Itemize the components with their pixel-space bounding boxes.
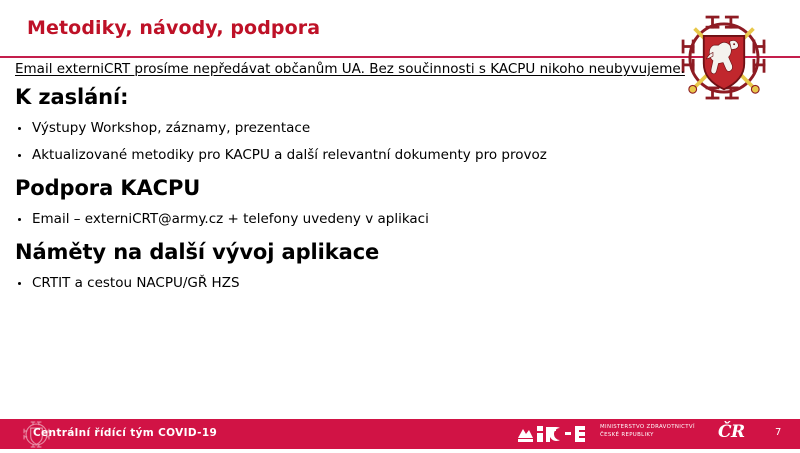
section-heading-podpora-kacpu: Podpora KACPU bbox=[15, 175, 785, 201]
bullet-list-namety: CRTIT a cestou NACPU/GŘ HZS bbox=[15, 275, 785, 292]
ministry-name-line2: ČESKÉ REPUBLIKY bbox=[600, 432, 695, 440]
list-item: Email – externiCRT@army.cz + telefony uv… bbox=[15, 211, 785, 228]
list-item: Výstupy Workshop, záznamy, prezentace bbox=[15, 120, 785, 137]
bullet-list-podpora-kacpu: Email – externiCRT@army.cz + telefony uv… bbox=[15, 211, 785, 228]
ministry-name-line1: MINISTERSTVO ZDRAVOTNICTVÍ bbox=[600, 424, 695, 432]
ministry-name: MINISTERSTVO ZDRAVOTNICTVÍ ČESKÉ REPUBLI… bbox=[600, 424, 695, 439]
lead-note: Email externiCRT prosíme nepředávat obča… bbox=[15, 60, 785, 78]
section-heading-k-zaslani: K zaslání: bbox=[15, 84, 785, 110]
page-number: 7 bbox=[775, 427, 781, 438]
bullet-list-k-zaslani: Výstupy Workshop, záznamy, prezentace Ak… bbox=[15, 120, 785, 164]
slide-body: Email externiCRT prosíme nepředávat obča… bbox=[15, 60, 785, 292]
section-heading-namety: Náměty na další vývoj aplikace bbox=[15, 239, 785, 265]
footer-team-label: Centrální řídící tým COVID-19 bbox=[33, 427, 217, 439]
page-title: Metodiky, návody, podpora bbox=[27, 17, 320, 39]
cr-logo: ČR bbox=[718, 422, 745, 442]
ministry-health-pictogram-icon bbox=[517, 424, 593, 443]
list-item: Aktualizované metodiky pro KACPU a další… bbox=[15, 147, 785, 164]
list-item: CRTIT a cestou NACPU/GŘ HZS bbox=[15, 275, 785, 292]
